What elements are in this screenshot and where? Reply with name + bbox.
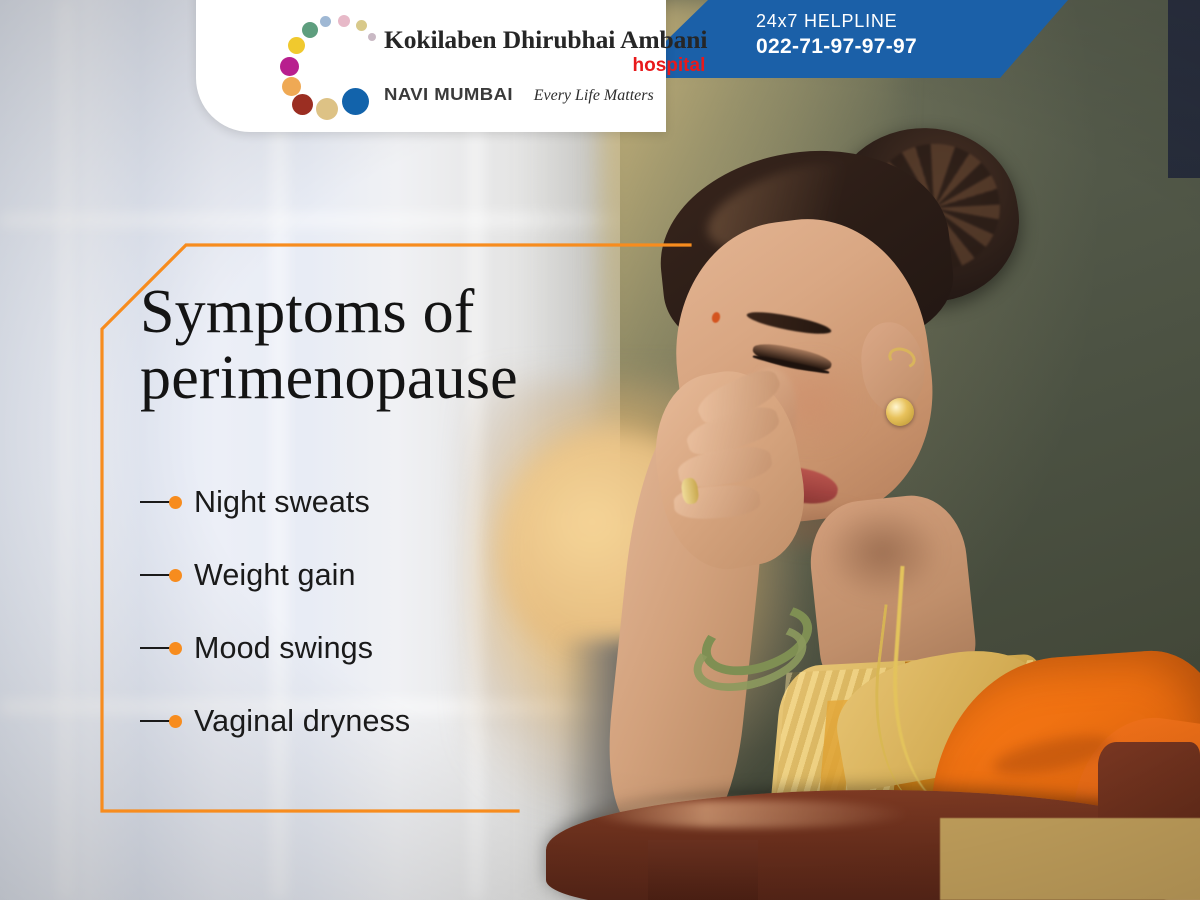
list-item: Weight gain [140, 562, 700, 588]
symptom-label: Vaginal dryness [194, 704, 410, 739]
headline-line-2: perimenopause [140, 346, 700, 412]
page-title: Symptoms of perimenopause [140, 280, 700, 411]
logo-dot [316, 98, 338, 120]
wall-seam [60, 0, 70, 900]
logo-dot [356, 20, 367, 31]
symptom-label: Night sweats [194, 485, 370, 520]
helpline-label: 24x7 HELPLINE [756, 11, 917, 32]
chair-post [648, 840, 758, 900]
logo-dot [282, 77, 301, 96]
poster-canvas: Kokilaben Dhirubhai Ambani hospital NAVI… [0, 0, 1200, 900]
logo-hospital-name: Kokilaben Dhirubhai Ambani [384, 27, 707, 53]
logo-dot [338, 15, 350, 27]
colored-dots-spiral-icon [274, 14, 380, 118]
main-content: Symptoms of perimenopause Night sweatsWe… [140, 280, 700, 781]
logo-city: NAVI MUMBAI [384, 84, 513, 105]
logo-hospital-word: hospital [384, 56, 705, 75]
headline-line-1: Symptoms of [140, 280, 700, 346]
bullet-marker-icon [140, 568, 194, 582]
logo-dot [342, 88, 369, 115]
logo-dot [288, 37, 305, 54]
logo-dot [292, 94, 313, 115]
bullet-marker-icon [140, 495, 194, 509]
logo-text-block: Kokilaben Dhirubhai Ambani hospital NAVI… [384, 27, 707, 105]
list-item: Night sweats [140, 489, 700, 515]
logo-dot [302, 22, 318, 38]
list-item: Vaginal dryness [140, 708, 700, 734]
chair-highlight [590, 800, 910, 828]
helpline-phone-number[interactable]: 022-71-97-97-97 [756, 34, 917, 59]
bullet-marker-icon [140, 714, 194, 728]
logo-dot [280, 57, 299, 76]
logo-tagline: Every Life Matters [534, 87, 654, 105]
earring [886, 398, 914, 426]
list-item: Mood swings [140, 635, 700, 661]
symptom-label: Mood swings [194, 631, 373, 666]
hospital-logo-panel: Kokilaben Dhirubhai Ambani hospital NAVI… [196, 0, 666, 132]
logo-dot [320, 16, 331, 27]
symptoms-list: Night sweatsWeight gainMood swingsVagina… [140, 489, 700, 734]
lap-fabric [940, 818, 1200, 900]
symptom-label: Weight gain [194, 558, 356, 593]
logo-dot [368, 33, 376, 41]
bullet-marker-icon [140, 641, 194, 655]
